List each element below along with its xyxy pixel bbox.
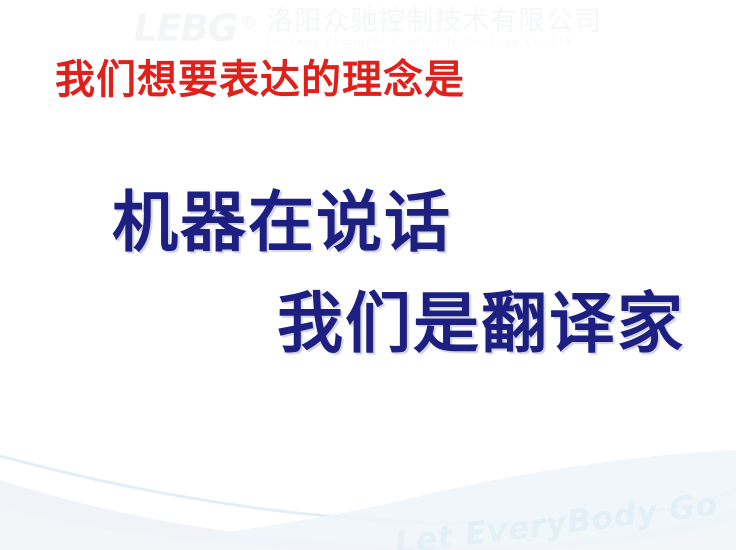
registered-trademark-icon: ®: [240, 15, 257, 32]
slide-canvas: LEBG ® 洛阳众驰控制技术有限公司 LuoYang Zhongchi Con…: [0, 0, 736, 550]
slogan-line-2: 我们是翻译家: [277, 287, 685, 360]
header-watermark: LEBG ® 洛阳众驰控制技术有限公司 LuoYang Zhongchi Con…: [0, 0, 736, 56]
wave-shape-cyan-stroke: [0, 456, 736, 523]
wave-shape-blue-upper: [80, 450, 736, 546]
wave-shape-white-band: [0, 464, 736, 546]
slogan-line-1: 机器在说话: [112, 186, 452, 259]
wave-shape-lavender: [0, 472, 736, 550]
company-name-en: LuoYang Zhongchi Control Technology Co.,…: [266, 38, 602, 48]
lebg-logo-text: LEBG: [134, 10, 237, 47]
wave-shape-gray-lower: [0, 508, 736, 550]
slide-heading: 我们想要表达的理念是: [55, 58, 465, 103]
wave-svg: [0, 450, 736, 550]
company-name-block: 洛阳众驰控制技术有限公司 LuoYang Zhongchi Control Te…: [266, 8, 602, 48]
footer-wave-decoration: [0, 450, 736, 550]
company-name-cn: 洛阳众驰控制技术有限公司: [266, 8, 602, 36]
footer-tagline: Let EveryBody Go: [393, 486, 720, 550]
